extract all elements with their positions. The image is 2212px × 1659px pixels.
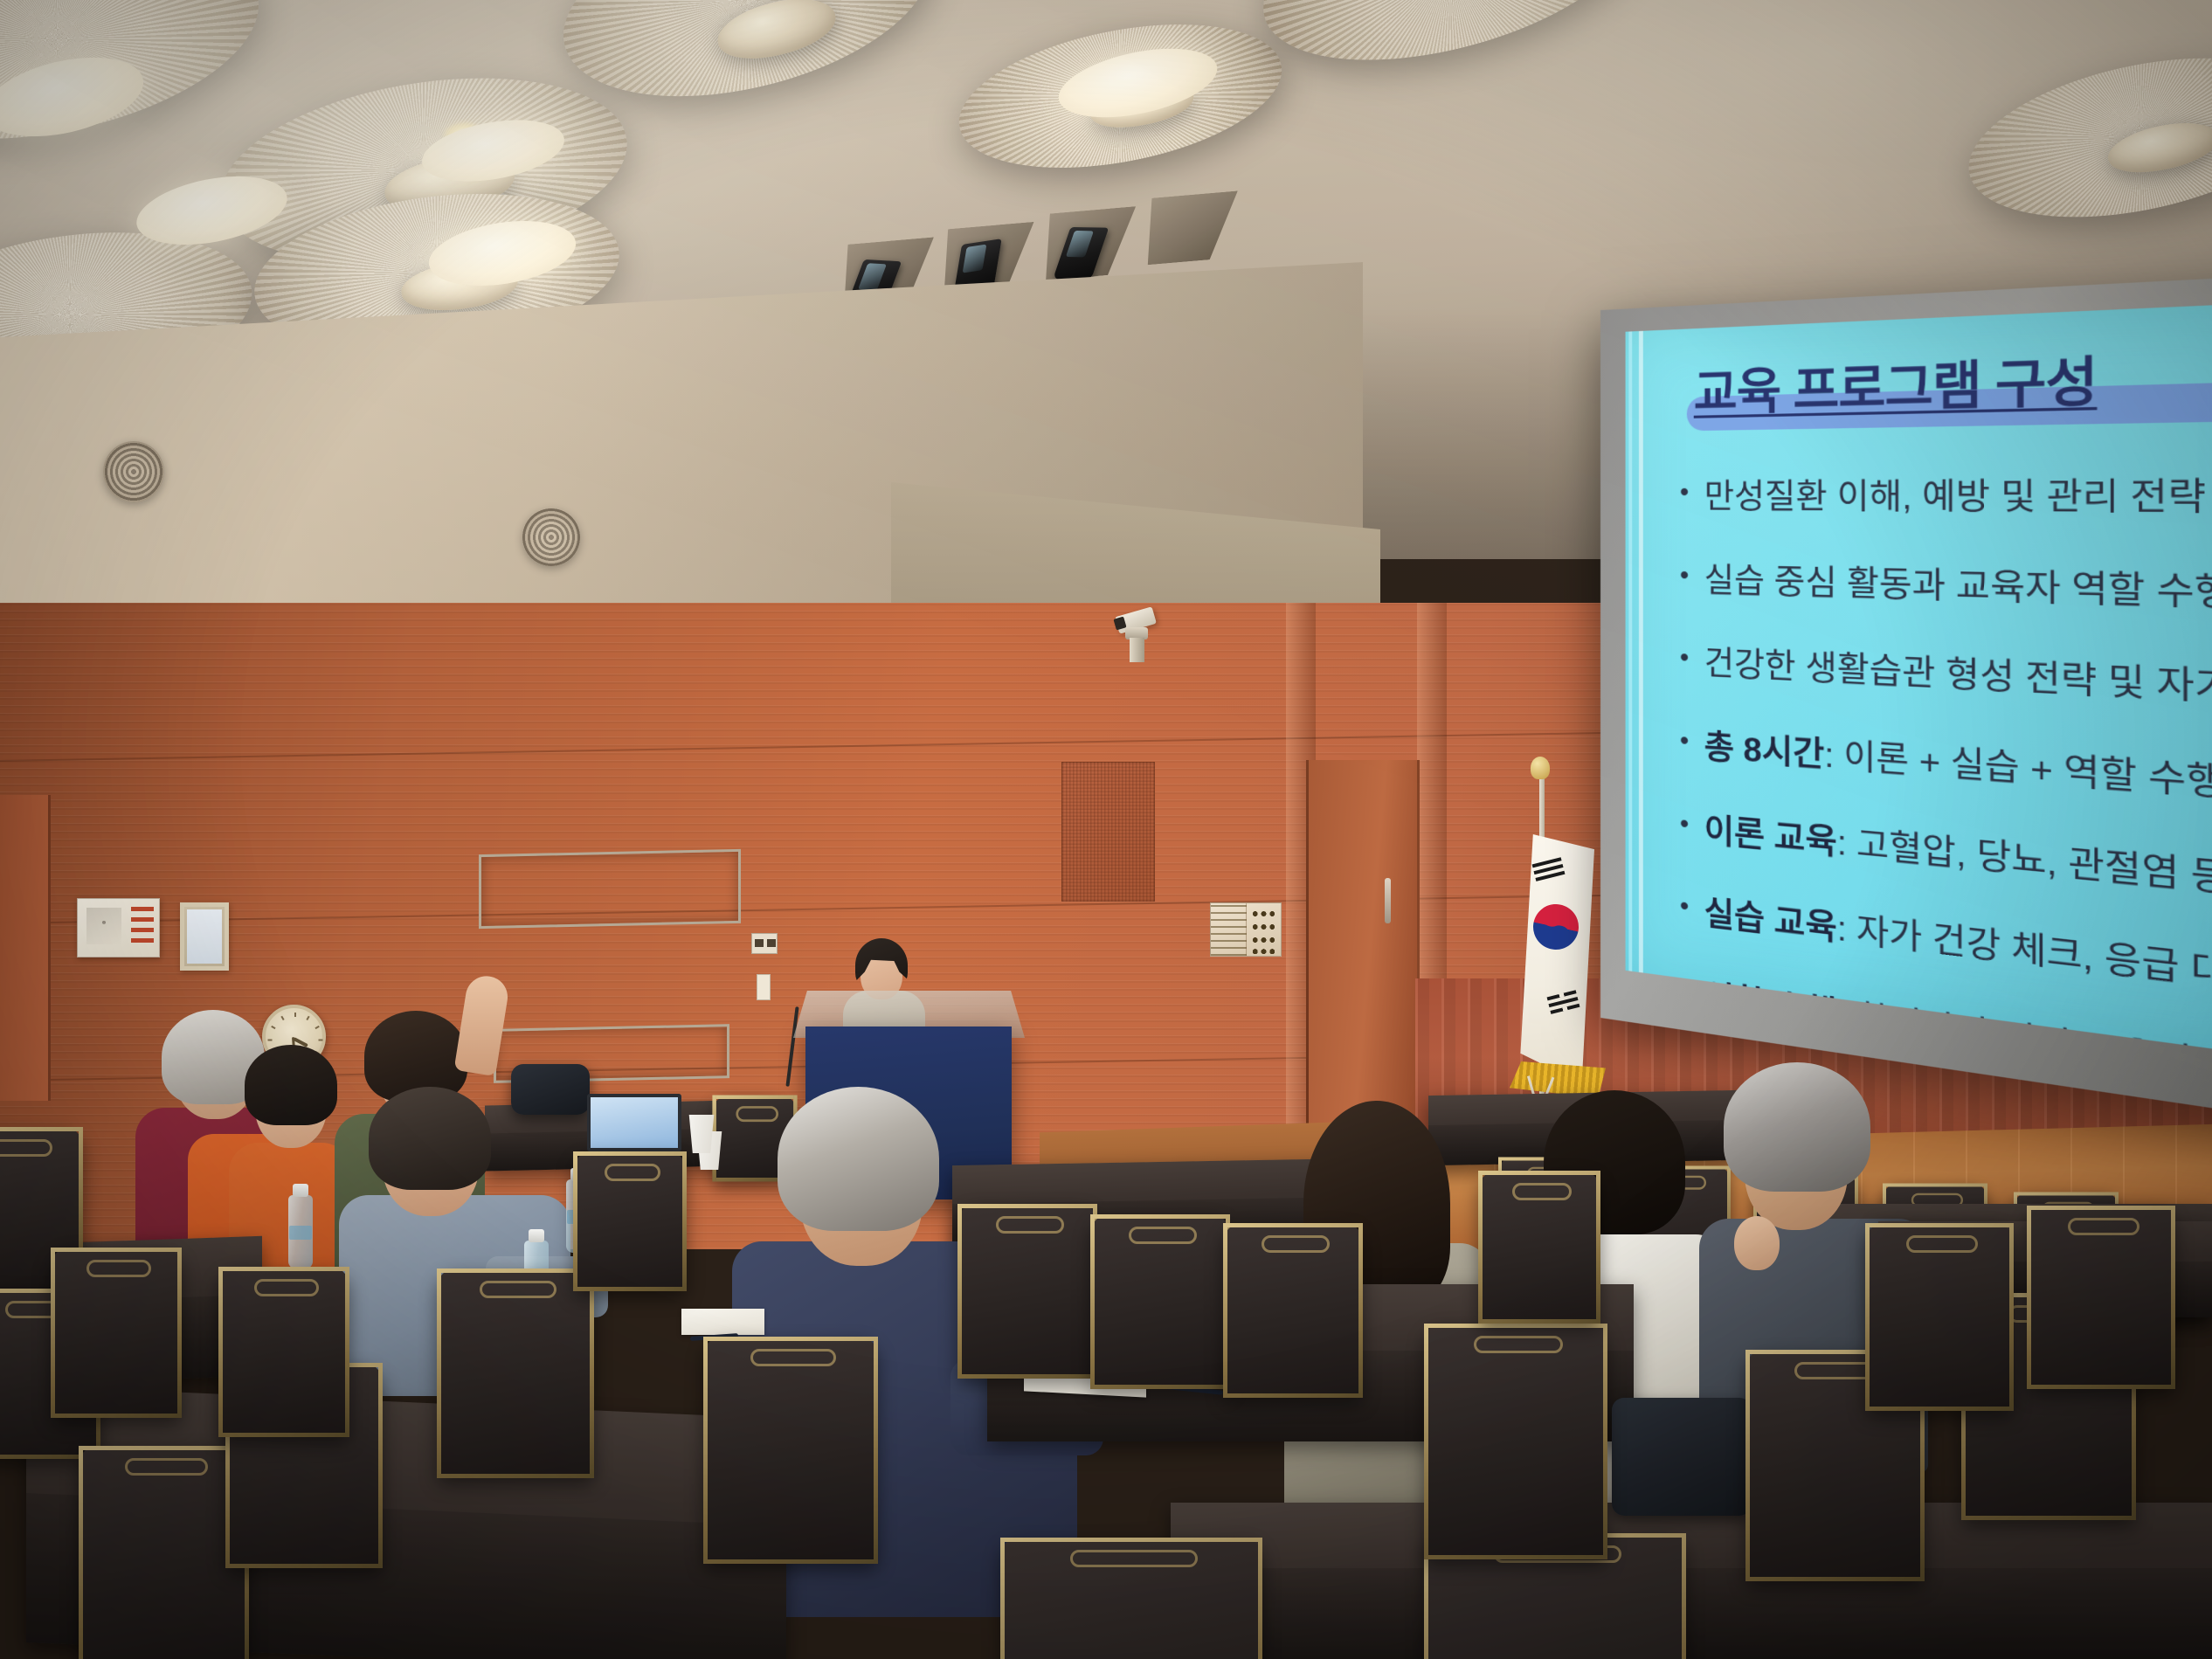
water-bottle [288, 1195, 313, 1268]
slide-accent-bar [1628, 331, 1632, 971]
slide-accent-bar [1639, 331, 1643, 973]
slide-bullet: 건강한 생활습관 형성 전략 및 자기 [1678, 645, 2212, 727]
slide-bullet-text: 실습 중심 활동과 교육자 역할 수행 [1704, 562, 2212, 614]
slide-bullet-lead: 역할 수행 [1704, 978, 1837, 1034]
door-handle[interactable] [1385, 878, 1391, 923]
slide-bullet-text: : 자가 건강 체크, 응급 대처 [1837, 909, 2212, 999]
conference-room-photo: 교육 프로그램 구성 만성질환 이해, 예방 및 관리 전략 교 실습 중심 활… [0, 0, 2212, 1659]
wall-speaker [522, 508, 580, 566]
chair[interactable] [573, 1151, 687, 1291]
chair[interactable] [2027, 1206, 2175, 1389]
slide-bullet-lead: 이론 교육 [1704, 812, 1837, 861]
slide-title: 교육 프로그램 구성 [1694, 338, 2098, 425]
chair[interactable] [51, 1248, 182, 1418]
slide-bullet-text: : 이론 + 실습 + 역할 수행 [1824, 736, 2212, 805]
slide-bullet-list: 만성질환 이해, 예방 및 관리 전략 교 실습 중심 활동과 교육자 역할 수… [1678, 476, 2212, 1058]
light-switch[interactable] [757, 974, 771, 1000]
lighting-control-panel[interactable] [1210, 902, 1282, 957]
chair[interactable] [1865, 1223, 2014, 1411]
framed-certificate [180, 902, 229, 971]
wall-speaker [103, 441, 164, 502]
slide-bullet: 실습 교육: 자가 건강 체크, 응급 대처 [1678, 893, 2212, 1034]
audience-table [1171, 1503, 2212, 1659]
slide-bullet-text: : 고혈압, 당뇨, 관절염 등 [1837, 823, 2212, 899]
chair[interactable] [79, 1446, 249, 1659]
side-door[interactable] [0, 795, 51, 1101]
slide-surface: 교육 프로그램 구성 만성질환 이해, 예방 및 관리 전략 교 실습 중심 활… [1626, 302, 2212, 1058]
slide-bullet-lead: 총 8시간 [1704, 729, 1825, 775]
chair[interactable] [437, 1268, 594, 1478]
chair[interactable] [1090, 1214, 1230, 1389]
slide-bullet-text: : 참여자가 직접 교육자 역 [1837, 996, 2212, 1058]
camera-bracket [1130, 638, 1144, 662]
attendee-hair [245, 1045, 337, 1125]
slide-bullet-highlighted: 총 8시간: 이론 + 실습 + 역할 수행 [1678, 728, 2212, 830]
chair[interactable] [1478, 1171, 1600, 1324]
chair[interactable] [1424, 1324, 1607, 1559]
attendee-hair [1724, 1062, 1870, 1192]
slide-bullet-lead: 실습 교육 [1704, 895, 1837, 947]
chair[interactable] [957, 1204, 1097, 1379]
chair[interactable] [1000, 1538, 1262, 1659]
handout-paper [681, 1309, 764, 1335]
fader-bank[interactable] [1211, 903, 1247, 956]
chair[interactable] [703, 1337, 878, 1564]
chair[interactable] [218, 1267, 349, 1437]
attendee-hand [1734, 1216, 1780, 1270]
wall-poster [77, 898, 160, 957]
slide-bullet-text: 만성질환 이해, 예방 및 관리 전략 교 [1704, 476, 2212, 519]
laptop [587, 1094, 681, 1151]
button-bank[interactable] [1247, 903, 1282, 956]
av-wall-plate [751, 933, 778, 954]
projection-screen: 교육 프로그램 구성 만성질환 이해, 예방 및 관리 전략 교 실습 중심 활… [1600, 274, 2212, 1122]
acoustic-wall-panel [1061, 762, 1155, 902]
attendee-hair [778, 1087, 939, 1231]
attendee-hair [369, 1087, 491, 1190]
slide-bullet-text: 건강한 생활습관 형성 전략 및 자기 [1704, 645, 2212, 709]
screen-frame-border: 교육 프로그램 구성 만성질환 이해, 예방 및 관리 전략 교 실습 중심 활… [1600, 274, 2212, 1122]
air-vent-grille [479, 849, 741, 929]
backpack [1612, 1398, 1752, 1516]
slide-bullet: 만성질환 이해, 예방 및 관리 전략 교 [1678, 476, 2212, 522]
slide-bullet: 실습 중심 활동과 교육자 역할 수행 [1678, 562, 2212, 624]
stage-side-door[interactable] [1306, 760, 1420, 1136]
flag-finial [1531, 757, 1550, 779]
chair[interactable] [1223, 1223, 1363, 1398]
